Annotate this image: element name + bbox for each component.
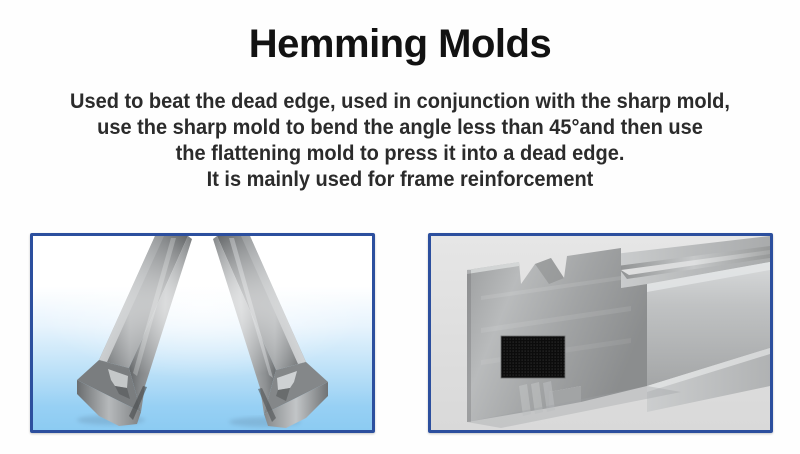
mold-pocket [501,336,565,378]
description-line-3: the flattening mold to press it into a d… [28,140,772,166]
description-line-1: Used to beat the dead edge, used in conj… [28,88,772,114]
mold-block-illustration [431,236,770,430]
description-line-2: use the sharp mold to bend the angle les… [28,114,772,140]
page-title: Hemming Molds [0,22,800,66]
product-photo-punch-bars[interactable] [30,233,375,433]
product-info-slide: Hemming Molds Used to beat the dead edge… [0,0,800,454]
punch-bar-left [77,236,192,426]
description-block: Used to beat the dead edge, used in conj… [28,88,772,192]
punch-bars-illustration [33,236,372,430]
description-line-4: It is mainly used for frame reinforcemen… [28,166,772,192]
product-photo-mold-block[interactable] [428,233,773,433]
product-image-gallery [0,233,800,438]
punch-bar-right [213,236,328,428]
